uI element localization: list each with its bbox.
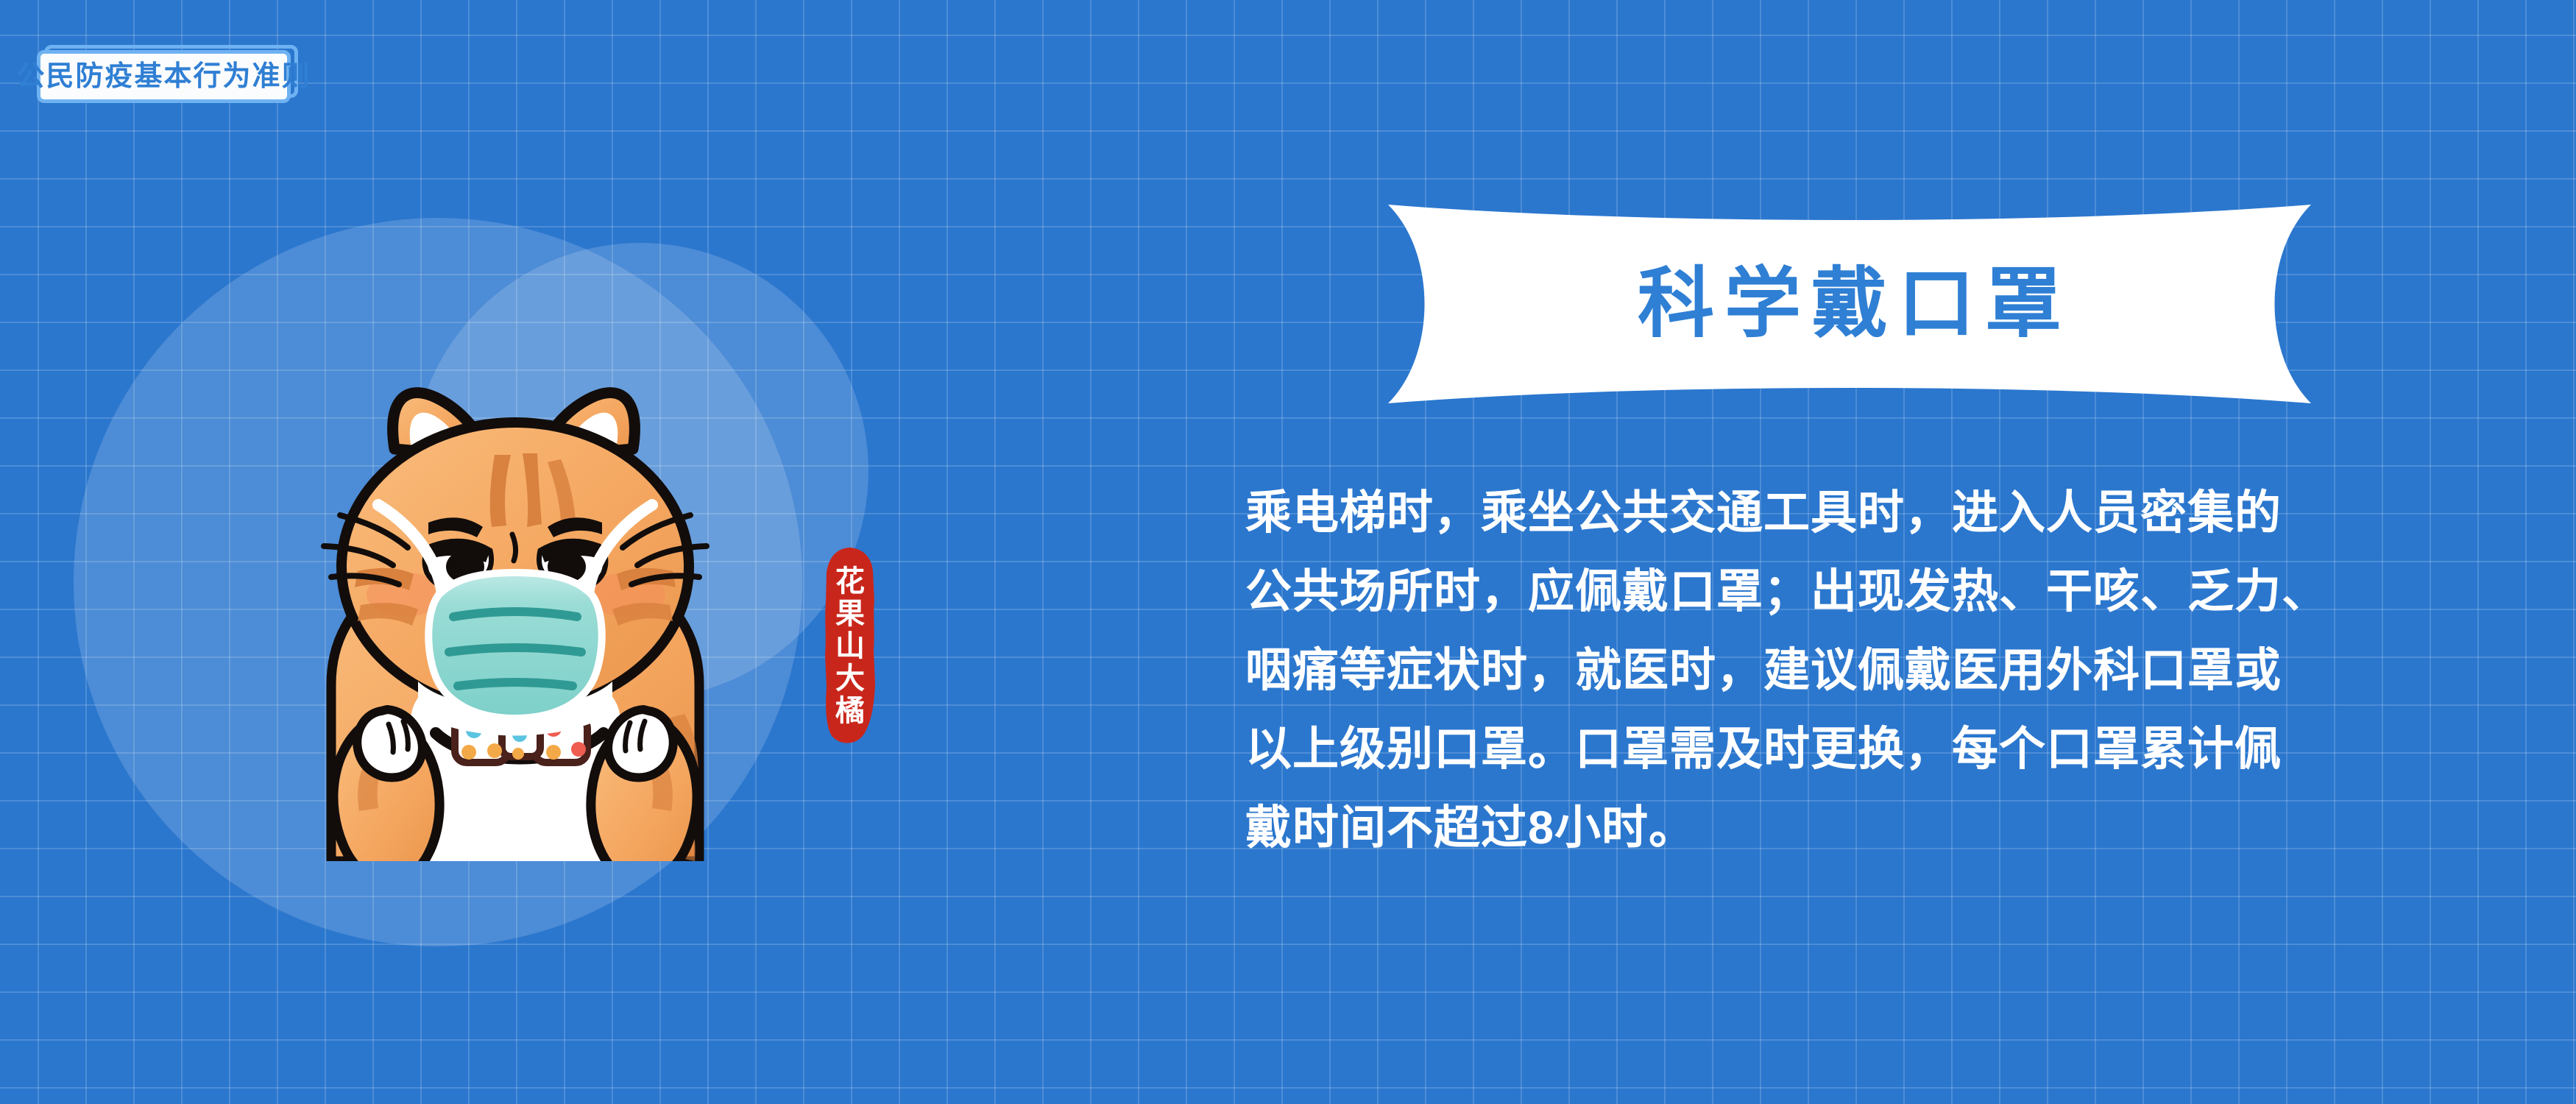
seal-char-1: 花: [835, 566, 865, 597]
body-line: 乘电梯时，乘坐公共交通工具时，进入人员密集的: [1245, 474, 2511, 553]
title-ribbon-text: 科学戴口罩: [1382, 200, 2317, 408]
header-badge-box: 公民防疫基本行为准则: [37, 50, 291, 103]
seal-char-4: 大: [835, 663, 865, 694]
seal-char-3: 山: [835, 631, 865, 662]
poster-root: 公民防疫基本行为准则: [0, 0, 2576, 1104]
header-badge: 公民防疫基本行为准则: [37, 50, 291, 103]
body-line: 以上级别口罩。口罩需及时更换，每个口罩累计佩: [1245, 710, 2511, 789]
seal-char-5: 橘: [835, 696, 865, 726]
artist-seal-characters: 花 果 山 大 橘: [824, 546, 876, 746]
seal-char-2: 果: [835, 598, 865, 629]
body-line: 公共场所时，应佩戴口罩；出现发热、干咳、乏力、: [1245, 553, 2511, 631]
body-copy: 乘电梯时，乘坐公共交通工具时，进入人员密集的 公共场所时，应佩戴口罩；出现发热、…: [1245, 474, 2511, 868]
body-line: 戴时间不超过8小时。: [1245, 789, 2511, 868]
cat-mascot-illustration: [221, 272, 810, 861]
title-ribbon: 科学戴口罩: [1382, 200, 2317, 408]
body-line: 咽痛等症状时，就医时，建议佩戴医用外科口罩或: [1245, 631, 2511, 710]
header-badge-label: 公民防疫基本行为准则: [17, 63, 311, 91]
artist-seal: 花 果 山 大 橘: [824, 546, 876, 746]
